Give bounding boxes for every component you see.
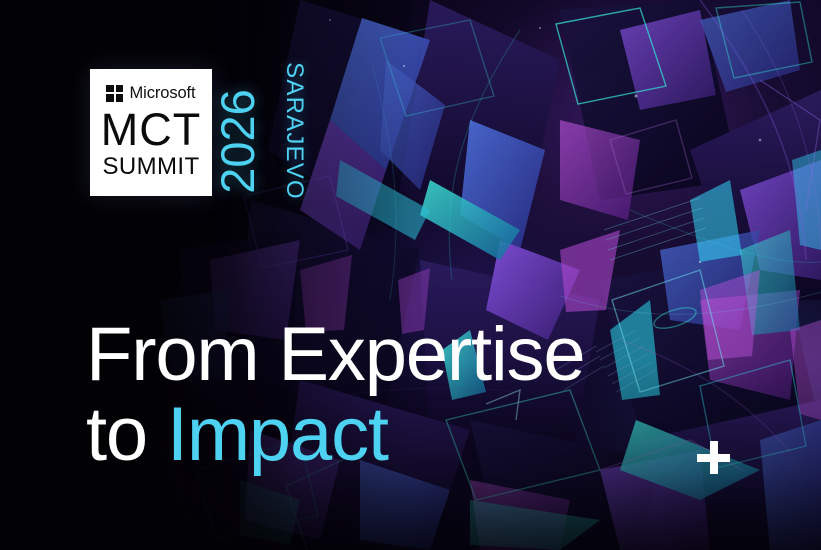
- summit-wordmark: SUMMIT: [102, 154, 199, 180]
- event-vertical-text: 2026 SARAJEVO: [219, 69, 309, 196]
- headline-line-2-prefix: to: [86, 392, 167, 477]
- event-banner: Microsoft MCT SUMMIT 2026 SARAJEVO From …: [0, 0, 821, 550]
- microsoft-four-squares-icon: [106, 85, 123, 102]
- event-city: SARAJEVO: [280, 62, 308, 200]
- event-year: 2026: [210, 89, 265, 194]
- headline-line-2-accent: Impact: [167, 392, 388, 477]
- mct-wordmark: MCT: [101, 107, 201, 153]
- microsoft-wordmark: Microsoft: [129, 85, 195, 102]
- logo-lockup: Microsoft MCT SUMMIT 2026 SARAJEVO: [90, 69, 309, 196]
- mct-summit-logo-card: Microsoft MCT SUMMIT: [90, 69, 212, 196]
- microsoft-brand-row: Microsoft: [106, 85, 195, 102]
- headline: From Expertise to Impact: [86, 318, 584, 473]
- headline-line-2: to Impact: [86, 398, 584, 472]
- headline-line-1: From Expertise: [86, 318, 584, 392]
- plus-icon: [697, 441, 730, 474]
